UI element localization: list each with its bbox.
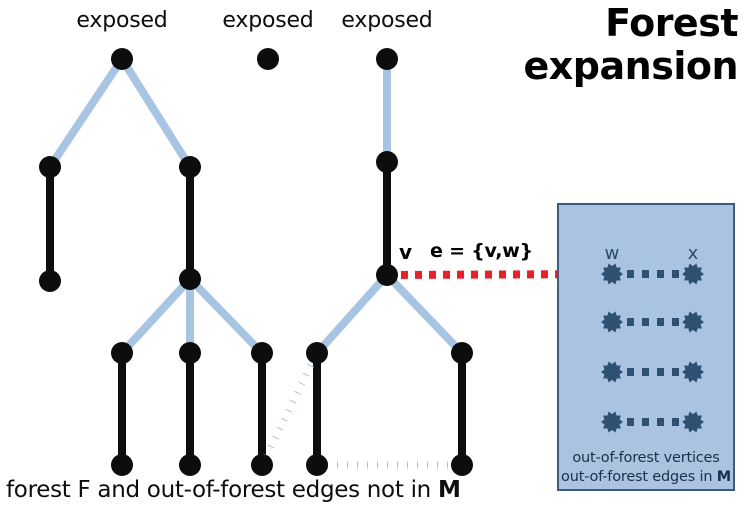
legend-vertex-x[interactable] bbox=[682, 312, 704, 333]
figure-caption-matching-symbol: M bbox=[438, 477, 461, 503]
legend-vertex-w[interactable] bbox=[601, 312, 623, 333]
vertex-v-label: v bbox=[399, 240, 412, 264]
graph-vertex[interactable] bbox=[179, 268, 201, 290]
tree-edges-group bbox=[50, 59, 462, 353]
legend-vertex-x[interactable] bbox=[682, 412, 704, 433]
forest-edge bbox=[387, 275, 462, 353]
legend-column-x-label: x bbox=[673, 243, 713, 264]
graph-vertex[interactable] bbox=[306, 454, 328, 476]
exposed-vertex-label: exposed bbox=[60, 8, 184, 33]
graph-vertex[interactable] bbox=[451, 454, 473, 476]
page-title: Forest expansion bbox=[418, 2, 738, 87]
graph-vertex[interactable] bbox=[179, 156, 201, 178]
graph-vertex[interactable] bbox=[376, 151, 398, 173]
graph-vertex[interactable] bbox=[111, 48, 133, 70]
graph-vertex[interactable] bbox=[111, 454, 133, 476]
legend-vertex-w[interactable] bbox=[601, 264, 623, 285]
graph-vertex[interactable] bbox=[179, 454, 201, 476]
diagram-stage: Forest expansion exposedexposedexposed v… bbox=[0, 0, 748, 512]
forest-edge bbox=[190, 279, 262, 353]
graph-vertex[interactable] bbox=[39, 156, 61, 178]
exposed-vertex-label: exposed bbox=[325, 8, 449, 33]
figure-caption: forest F and out-of-forest edges not in … bbox=[6, 477, 461, 503]
graph-vertex[interactable] bbox=[376, 264, 398, 286]
legend-rows-group bbox=[601, 264, 704, 433]
forest-edge bbox=[122, 279, 190, 353]
legend-caption-matching-symbol: M bbox=[717, 469, 731, 485]
forest-edge bbox=[122, 59, 190, 167]
legend-vertex-x[interactable] bbox=[682, 264, 704, 285]
graph-vertex[interactable] bbox=[376, 48, 398, 70]
legend-caption-line-1: out-of-forest vertices bbox=[560, 449, 732, 468]
out-of-forest-edge bbox=[262, 353, 317, 465]
graph-vertex[interactable] bbox=[111, 342, 133, 364]
graph-vertex[interactable] bbox=[179, 342, 201, 364]
legend-column-w-label: w bbox=[592, 243, 632, 264]
legend-vertex-w[interactable] bbox=[601, 412, 623, 433]
matched-edges-group bbox=[50, 162, 462, 465]
legend-caption-line-2: out-of-forest edges in M bbox=[560, 468, 732, 487]
legend-caption: out-of-forest vertices out-of-forest edg… bbox=[560, 449, 732, 486]
figure-caption-text: forest F and out-of-forest edges not in bbox=[6, 477, 438, 503]
graph-vertex[interactable] bbox=[257, 48, 279, 70]
forest-edge bbox=[50, 59, 122, 167]
legend-vertex-x[interactable] bbox=[682, 362, 704, 383]
graph-vertex[interactable] bbox=[306, 342, 328, 364]
graph-vertex[interactable] bbox=[251, 454, 273, 476]
exposed-vertex-label: exposed bbox=[206, 8, 330, 33]
legend-caption-line-2-text: out-of-forest edges in bbox=[561, 469, 717, 485]
legend-vertex-w[interactable] bbox=[601, 362, 623, 383]
dotted-edges-group bbox=[262, 353, 462, 465]
graph-vertex[interactable] bbox=[39, 270, 61, 292]
edge-e-label: e = {v,w} bbox=[430, 240, 533, 262]
forest-edge bbox=[317, 275, 387, 353]
graph-vertex[interactable] bbox=[451, 342, 473, 364]
graph-vertex[interactable] bbox=[251, 342, 273, 364]
title-line-1: Forest bbox=[418, 2, 738, 45]
title-line-2: expansion bbox=[418, 45, 738, 88]
